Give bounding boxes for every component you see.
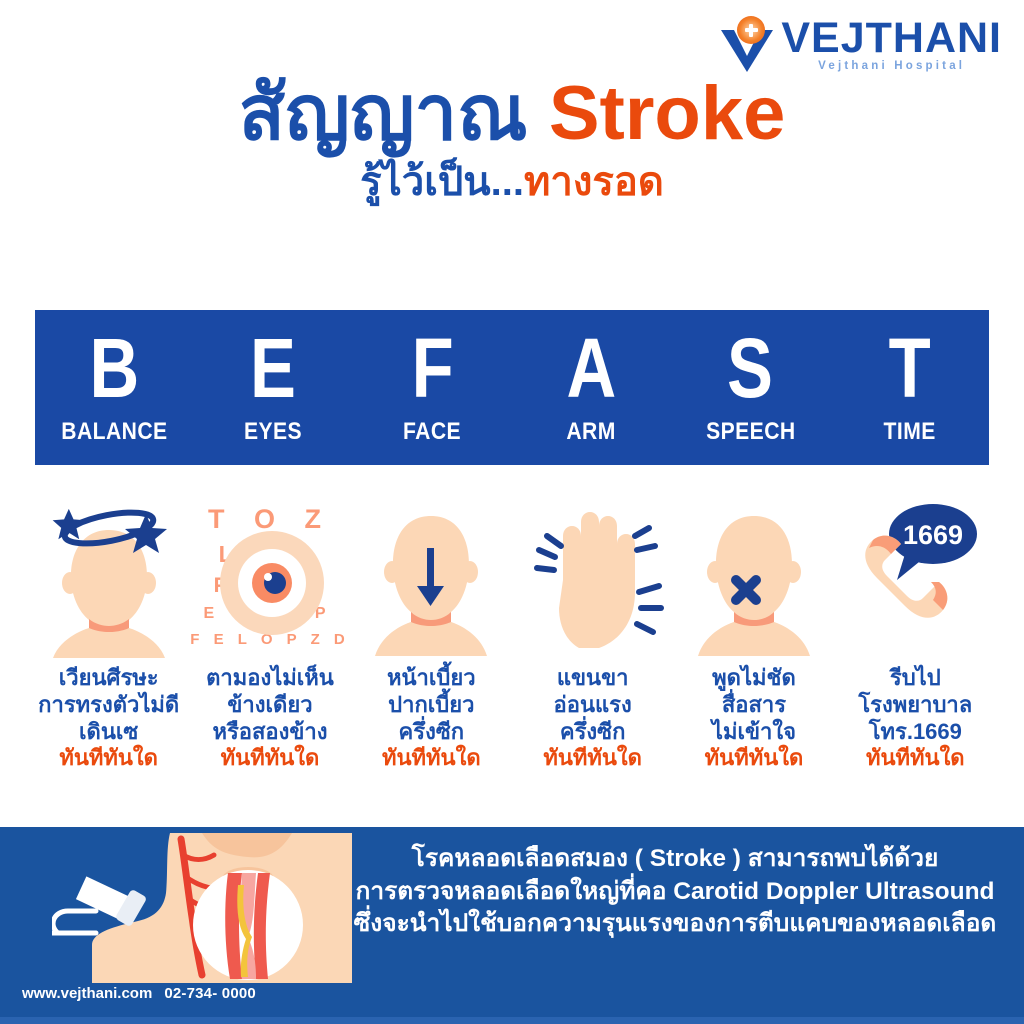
title-main-line: สัญญาณ Stroke xyxy=(0,74,1024,154)
artery-plaque-inset xyxy=(193,870,303,980)
drooping-face-icon xyxy=(351,488,512,663)
caption-line: สื่อสาร xyxy=(705,692,804,719)
befast-word: FACE xyxy=(403,418,461,446)
bottom-accent-strip xyxy=(0,1017,1024,1024)
symptom-card-speech: พูดไม่ชัด สื่อสาร ไม่เข้าใจ ทันทีทันใด xyxy=(673,488,834,818)
caption-line: การทรงตัวไม่ดี xyxy=(38,692,179,719)
subtitle-thai-orange: ทางรอด xyxy=(524,160,664,204)
symptom-caption: แขนขา อ่อนแรง ครึ่งซีก ทันทีทันใด xyxy=(543,665,642,772)
befast-word: ARM xyxy=(567,418,616,446)
footer-contact: www.vejthani.com 02-734- 0000 xyxy=(22,985,256,1002)
caption-urgent: ทันทีทันใด xyxy=(858,745,972,772)
befast-column-eyes: E EYES xyxy=(194,310,353,465)
logo-mark-icon xyxy=(717,16,787,72)
title-english-word: Stroke xyxy=(549,71,786,156)
eye-chart-row-1: T O Z xyxy=(208,504,332,534)
dizzy-head-icon xyxy=(28,488,189,663)
emergency-call-icon: 1669 xyxy=(835,488,996,663)
symptom-caption: รีบไป โรงพยาบาล โทร.1669 ทันทีทันใด xyxy=(858,665,972,772)
title-subtitle-line: รู้ไว้เป็น...ทางรอด xyxy=(0,158,1024,206)
speech-bubble-icon: 1669 xyxy=(889,504,977,580)
bottom-line-2: การตรวจหลอดเลือดใหญ่ที่คอ Carotid Dopple… xyxy=(330,876,1020,909)
befast-word: TIME xyxy=(883,418,935,446)
caption-line: โรงพยาบาล xyxy=(858,692,972,719)
caption-line: รีบไป xyxy=(858,665,972,692)
bottom-line-3: ซึ่งจะนำไปใช้บอกความรุนแรงของการตีบแคบขอ… xyxy=(330,908,1020,941)
caption-urgent: ทันทีทันใด xyxy=(382,745,481,772)
caption-line: ตามองไม่เห็น xyxy=(206,665,334,692)
symptom-card-time: 1669 รีบไป โรงพยาบาล โทร.1669 ทันทีทันใด xyxy=(835,488,996,818)
caption-urgent: ทันทีทันใด xyxy=(38,745,179,772)
symptom-card-arm: แขนขา อ่อนแรง ครึ่งซีก ทันทีทันใด xyxy=(512,488,673,818)
befast-column-balance: B BALANCE xyxy=(35,310,194,465)
x-mark-icon xyxy=(736,580,756,600)
caption-line: อ่อนแรง xyxy=(543,692,642,719)
page-title: สัญญาณ Stroke รู้ไว้เป็น...ทางรอด xyxy=(0,74,1024,206)
phone-number[interactable]: 02-734- 0000 xyxy=(164,985,256,1002)
caption-urgent: ทันทีทันใด xyxy=(543,745,642,772)
befast-letter: T xyxy=(888,329,930,409)
befast-letter: E xyxy=(251,329,297,409)
eye-chart-icon: T O Z L D P D E D Z P F E L O P Z D xyxy=(189,488,350,663)
symptom-caption: ตามองไม่เห็น ข้างเดียว หรือสองข้าง ทันที… xyxy=(206,665,334,772)
logo-tagline: Vejthani Hospital xyxy=(781,61,1002,73)
befast-column-face: F FACE xyxy=(353,310,512,465)
befast-column-speech: S SPEECH xyxy=(671,310,830,465)
befast-letter: F xyxy=(411,329,453,409)
befast-word: EYES xyxy=(244,418,302,446)
subtitle-thai-blue: รู้ไว้เป็น... xyxy=(360,160,524,204)
caption-line: โทร.1669 xyxy=(858,719,972,746)
logo-wordmark: VEJTHANI xyxy=(781,17,1002,60)
caption-line: หน้าเบี้ยว xyxy=(382,665,481,692)
caption-line: เวียนศีรษะ xyxy=(38,665,179,692)
befast-column-arm: A ARM xyxy=(512,310,671,465)
befast-column-time: T TIME xyxy=(830,310,989,465)
speech-difficulty-icon xyxy=(673,488,834,663)
befast-letter: S xyxy=(728,329,774,409)
caption-urgent: ทันทีทันใด xyxy=(705,745,804,772)
befast-letter: B xyxy=(90,329,140,409)
befast-word: SPEECH xyxy=(706,418,795,446)
caption-line: เดินเซ xyxy=(38,719,179,746)
caption-line: ครึ่งซีก xyxy=(382,719,481,746)
symptom-caption: หน้าเบี้ยว ปากเบี้ยว ครึ่งซีก ทันทีทันใด xyxy=(382,665,481,772)
symptom-card-face: หน้าเบี้ยว ปากเบี้ยว ครึ่งซีก ทันทีทันใด xyxy=(351,488,512,818)
caption-line: พูดไม่ชัด xyxy=(705,665,804,692)
vejthani-logo: VEJTHANI Vejthani Hospital xyxy=(717,10,1002,72)
befast-banner: B BALANCE E EYES F FACE A ARM S SPEECH T… xyxy=(35,310,989,465)
carotid-ultrasound-illustration xyxy=(52,833,352,983)
website-link[interactable]: www.vejthani.com xyxy=(22,985,152,1002)
caption-line: ไม่เข้าใจ xyxy=(705,719,804,746)
symptom-caption: พูดไม่ชัด สื่อสาร ไม่เข้าใจ ทันทีทันใด xyxy=(705,665,804,772)
caption-line: ข้างเดียว xyxy=(206,692,334,719)
emergency-number-label: 1669 xyxy=(903,520,963,550)
symptom-cards: เวียนศีรษะ การทรงตัวไม่ดี เดินเซ ทันทีทั… xyxy=(28,488,996,818)
bottom-line-1: โรคหลอดเลือดสมอง ( Stroke ) สามารถพบได้ด… xyxy=(330,843,1020,876)
befast-word: BALANCE xyxy=(61,418,167,446)
caption-line: ครึ่งซีก xyxy=(543,719,642,746)
caption-line: หรือสองข้าง xyxy=(206,719,334,746)
weak-hand-icon xyxy=(512,488,673,663)
caption-urgent: ทันทีทันใด xyxy=(206,745,334,772)
befast-letter: A xyxy=(567,329,617,409)
title-thai-word: สัญญาณ xyxy=(239,71,528,156)
symptom-card-balance: เวียนศีรษะ การทรงตัวไม่ดี เดินเซ ทันทีทั… xyxy=(28,488,189,818)
caption-line: แขนขา xyxy=(543,665,642,692)
bottom-message: โรคหลอดเลือดสมอง ( Stroke ) สามารถพบได้ด… xyxy=(330,843,1020,941)
symptom-card-eyes: T O Z L D P D E D Z P F E L O P Z D ตามอ… xyxy=(189,488,350,818)
bottom-info-panel: โรคหลอดเลือดสมอง ( Stroke ) สามารถพบได้ด… xyxy=(0,827,1024,1024)
caption-line: ปากเบี้ยว xyxy=(382,692,481,719)
symptom-caption: เวียนศีรษะ การทรงตัวไม่ดี เดินเซ ทันทีทั… xyxy=(38,665,179,772)
